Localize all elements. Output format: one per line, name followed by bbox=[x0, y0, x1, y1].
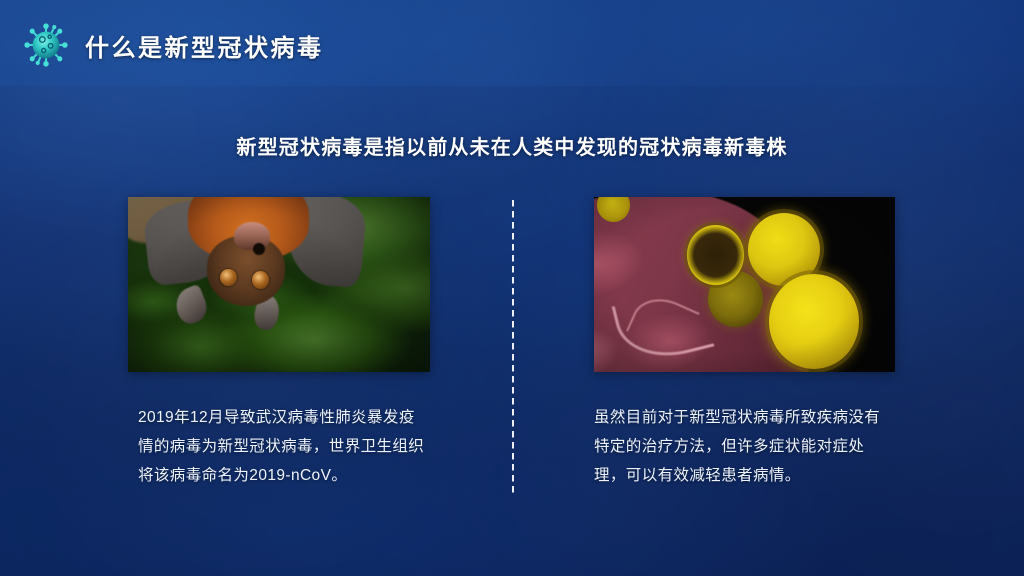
photo-vignette bbox=[594, 197, 895, 372]
coronavirus-micrograph-photo bbox=[594, 197, 895, 372]
virus-icon bbox=[22, 22, 70, 68]
content-panel-left: 2019年12月导致武汉病毒性肺炎暴发疫情的病毒为新型冠状病毒，世界卫生组织将该… bbox=[128, 197, 430, 490]
page-title: 什么是新型冠状病毒 bbox=[85, 28, 324, 63]
headline-text: 新型冠状病毒是指以前从未在人类中发现的冠状病毒新毒株 bbox=[0, 131, 1024, 160]
photo-vignette bbox=[128, 197, 430, 372]
content-panel-right: 虽然目前对于新型冠状病毒所致疾病没有特定的治疗方法，但许多症状能对症处理，可以有… bbox=[594, 197, 895, 490]
caption-left: 2019年12月导致武汉病毒性肺炎暴发疫情的病毒为新型冠状病毒，世界卫生组织将该… bbox=[128, 403, 430, 490]
slide-header: 什么是新型冠状病毒 bbox=[0, 0, 1024, 86]
slide-canvas: 什么是新型冠状病毒 新型冠状病毒是指以前从未在人类中发现的冠状病毒新毒株 201… bbox=[0, 0, 1024, 576]
caption-right: 虽然目前对于新型冠状病毒所致疾病没有特定的治疗方法，但许多症状能对症处理，可以有… bbox=[594, 403, 895, 490]
vertical-dashed-divider bbox=[512, 200, 514, 495]
bat-photo bbox=[128, 197, 430, 372]
